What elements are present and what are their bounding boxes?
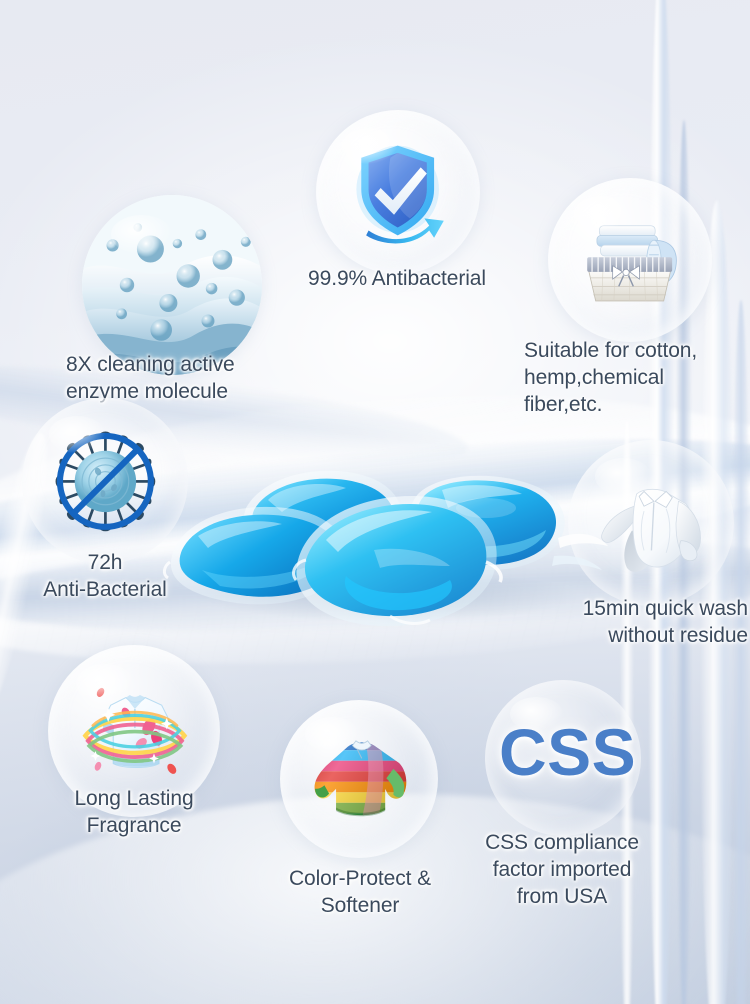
bubble-cleaning-enzyme <box>82 195 262 375</box>
shirt-fragrance-swirl-icon <box>70 667 197 794</box>
caption-antibacterial: 99.9% Antibacterial <box>272 266 522 293</box>
css-wordmark: CSS <box>499 714 629 790</box>
bubble-color-protect <box>280 700 438 858</box>
caption-css-compliance: CSS compliance factor imported from USA <box>455 830 669 911</box>
rainbow-sweater-icon <box>301 721 418 838</box>
laundry-basket-icon <box>569 199 690 320</box>
caption-fragrance: Long Lasting Fragrance <box>34 786 234 840</box>
shield-check-icon <box>337 131 458 252</box>
caption-color-protect: Color-Protect & Softener <box>254 866 466 920</box>
virus-blocked-icon <box>44 420 167 543</box>
product-infographic-poster: 8X cleaning active enzyme molecule <box>0 0 750 1004</box>
bubble-antibacterial <box>316 110 480 274</box>
bubble-fabric-types <box>548 178 712 342</box>
product-image-laundry-pods <box>150 390 610 630</box>
fabric-waves-bubbles-icon <box>82 195 262 375</box>
